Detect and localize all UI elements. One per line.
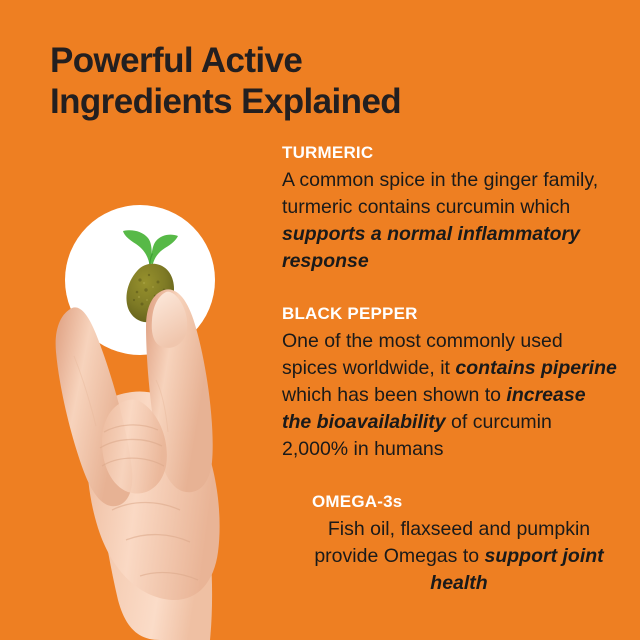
page-title-line-1: Powerful Active bbox=[50, 40, 570, 81]
ingredient-body-turmeric: A common spice in the ginger family, tur… bbox=[282, 167, 618, 275]
ingredient-heading-omega-3s: OMEGA-3s bbox=[300, 491, 618, 513]
hero-image bbox=[0, 180, 280, 640]
ingredient-heading-black-pepper: BLACK PEPPER bbox=[282, 303, 618, 325]
page-title-line-2: Ingredients Explained bbox=[50, 81, 570, 122]
page-title: Powerful Active Ingredients Explained bbox=[50, 40, 570, 122]
ingredient-block-turmeric: TURMERIC A common spice in the ginger fa… bbox=[282, 142, 618, 275]
hand-holding-chew bbox=[0, 180, 280, 640]
ingredients-infographic: Powerful Active Ingredients Explained bbox=[0, 0, 640, 640]
ingredients-list: TURMERIC A common spice in the ginger fa… bbox=[282, 142, 618, 597]
ingredient-heading-turmeric: TURMERIC bbox=[282, 142, 618, 164]
ingredient-body-omega-3s: Fish oil, flaxseed and pumpkin provide O… bbox=[300, 516, 618, 597]
ingredient-block-omega-3s: OMEGA-3s Fish oil, flaxseed and pumpkin … bbox=[282, 491, 618, 597]
ingredient-block-black-pepper: BLACK PEPPER One of the most commonly us… bbox=[282, 303, 618, 463]
ingredient-body-black-pepper: One of the most commonly used spices wor… bbox=[282, 328, 618, 463]
